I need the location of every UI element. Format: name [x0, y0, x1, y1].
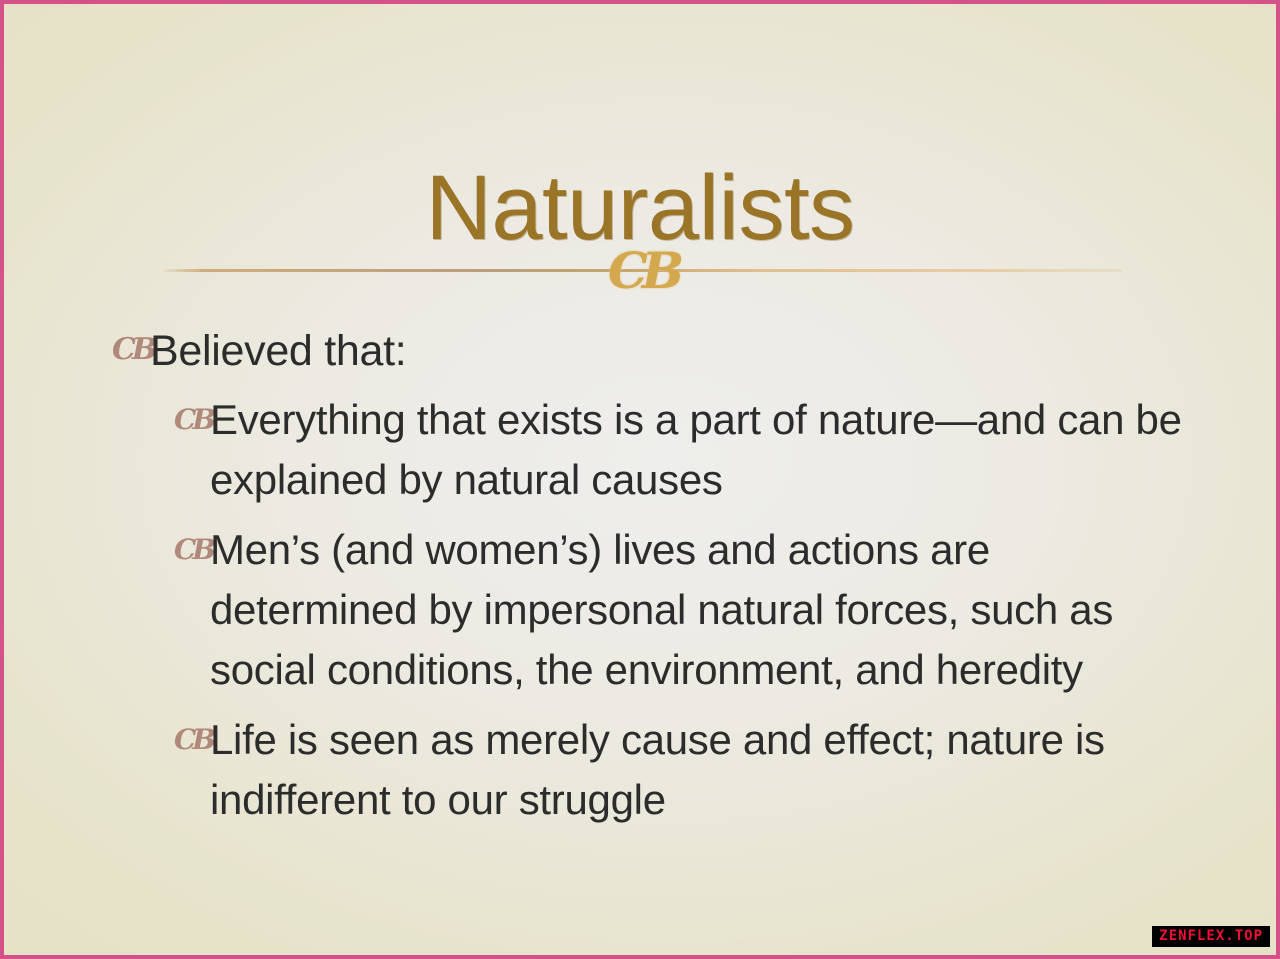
cb-bullet-icon: CB [174, 710, 210, 770]
list-item-label: Life is seen as merely cause and effect;… [210, 710, 1202, 830]
cb-bullet-icon: CB [174, 390, 210, 450]
list-item: CB Everything that exists is a part of n… [174, 390, 1202, 510]
list-item-label: Men’s (and women’s) lives and actions ar… [210, 520, 1202, 700]
cb-flourish-icon: CB [608, 248, 678, 294]
list-item: CB Believed that: [112, 326, 1202, 376]
ornamental-divider: CB [164, 252, 1122, 294]
list-item-label: Believed that: [150, 326, 1202, 376]
cb-bullet-icon: CB [112, 326, 150, 374]
list-item: CB Men’s (and women’s) lives and actions… [174, 520, 1202, 700]
list-item: CB Life is seen as merely cause and effe… [174, 710, 1202, 830]
page-title: Naturalists [425, 162, 854, 254]
sub-list: CB Everything that exists is a part of n… [174, 390, 1202, 830]
slide-canvas: Naturalists CB CB Believed that: CB Ever… [0, 0, 1280, 959]
body-content: CB Believed that: CB Everything that exi… [112, 326, 1202, 840]
cb-bullet-icon: CB [174, 520, 210, 580]
watermark-badge: ZENFLEX.TOP [1152, 926, 1270, 947]
list-item-label: Everything that exists is a part of natu… [210, 390, 1202, 510]
